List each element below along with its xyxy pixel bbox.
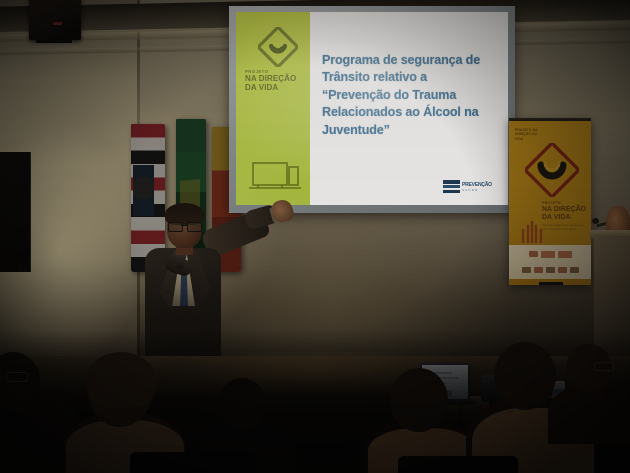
banner-top-text: PROJETO NA DIREÇÃO DA VIDA xyxy=(515,128,545,141)
auditorium-seat xyxy=(130,452,258,473)
partner-logo-line1: PREVENÇÃO xyxy=(462,183,492,188)
banner-top-rail xyxy=(509,118,591,121)
speaker-led-icon xyxy=(53,22,62,25)
partner-logo-text: PREVENÇÃO S A Ú D E xyxy=(462,183,492,192)
audience-member-head xyxy=(494,342,556,410)
sponsor-row-2 xyxy=(509,261,591,277)
monitor-outline-icon xyxy=(249,161,301,195)
slide-title-line-1: Programa de segurança de xyxy=(322,52,497,69)
flag-sao-paulo-canton xyxy=(133,165,154,215)
projection-screen-surface: PROJETO NA DIREÇÃO DA VIDA Programa de s… xyxy=(236,12,508,205)
slide-title: Programa de segurança de Trânsito relati… xyxy=(322,52,497,139)
sponsor-row-1 xyxy=(509,245,591,261)
audience-glasses-icon xyxy=(594,362,614,371)
audience-member-shoulders xyxy=(548,384,630,444)
wall-speaker xyxy=(29,0,81,40)
banner-text-block: PROJETO NA DIREÇÃO DA VIDA Trânsito segu… xyxy=(542,202,588,232)
auditorium-seat xyxy=(398,456,518,473)
people-group-icon xyxy=(519,221,545,243)
banner-top-label: PROJETO NA DIREÇÃO DA VIDA xyxy=(515,128,545,141)
banner-foot xyxy=(539,282,563,285)
audience-member-head xyxy=(390,368,448,432)
slide-logo-line2: DA VIDA xyxy=(245,84,307,93)
slide-title-line-3: “Prevenção do Trauma xyxy=(322,87,497,104)
slide-title-line-5: Juventude” xyxy=(322,122,497,139)
partner-logo-mark-icon xyxy=(443,180,460,195)
audience-member-head xyxy=(218,378,266,430)
presentation-photo-scene: PROJETO NA DIREÇÃO DA VIDA Programa de s… xyxy=(0,0,630,473)
slide-logo-text: PROJETO NA DIREÇÃO DA VIDA xyxy=(245,70,307,93)
diamond-heart-icon xyxy=(525,143,579,197)
audience-member-hair xyxy=(86,352,156,408)
slide-title-line-4: Relacionados ao Álcool na xyxy=(322,104,497,121)
slide-title-line-2: Trânsito relativo a xyxy=(322,69,497,86)
diamond-heart-icon xyxy=(258,27,298,67)
presentation-slide: PROJETO NA DIREÇÃO DA VIDA Programa de s… xyxy=(236,12,508,205)
glasses-icon xyxy=(168,222,201,230)
banner-sponsor-logos xyxy=(509,245,591,279)
banner-subtitle: Trânsito seguro é um direito, por uma Ju… xyxy=(542,224,588,232)
partner-logo-line2: S A Ú D E xyxy=(462,189,492,192)
podium-microphone-head-icon xyxy=(592,218,599,224)
banner-line1: NA DIREÇÃO xyxy=(542,206,588,214)
rollup-banner: PROJETO NA DIREÇÃO DA VIDA PROJETO NA DI… xyxy=(509,118,591,285)
audience-glasses-icon xyxy=(6,372,28,382)
wall-monitor-mount xyxy=(18,265,27,272)
wall-monitor-panel xyxy=(0,152,31,272)
slide-footer-partner-logo: PREVENÇÃO S A Ú D E xyxy=(443,179,499,196)
slide-logo-projeto: PROJETO xyxy=(245,70,307,75)
banner-line2: DA VIDA xyxy=(542,214,588,222)
